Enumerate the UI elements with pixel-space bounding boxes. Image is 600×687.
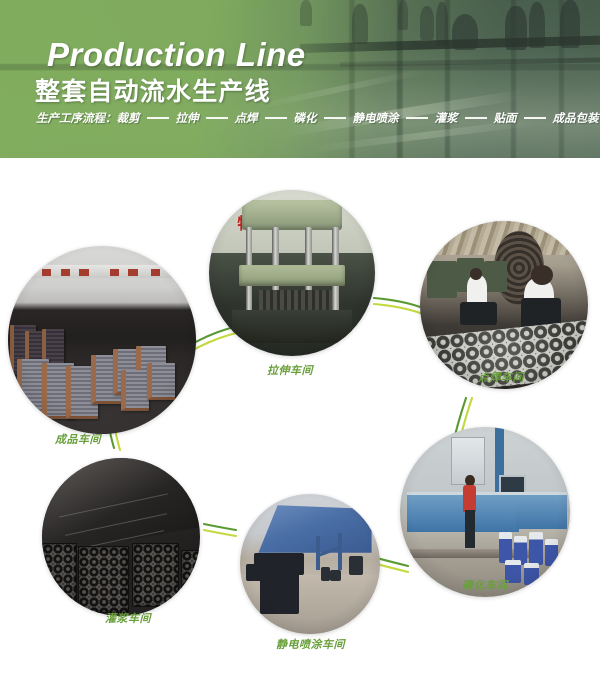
process-step-phosphating: 磷化 [294,110,317,126]
process-step-grouting: 灌浆 [435,110,458,126]
silhouette-figure [452,14,478,50]
silhouette-figure [398,0,408,30]
title-english: Production Line [47,36,306,74]
photo-finished-workshop [8,246,196,434]
caption-spot-welding-workshop: 点焊车间 [478,369,524,385]
process-flow-strip: 生产工序流程： 裁剪 拉伸 点焊 磷化 静电喷涂 灌浆 贴面 成品包装 [36,110,599,126]
process-step-stretching: 拉伸 [176,110,199,126]
flow-dash-icon [406,117,428,119]
flow-dash-icon [265,117,287,119]
process-cycle-diagram: 成品车间 特 拉伸车间 [0,158,600,687]
photo-grouting-workshop [42,458,200,616]
caption-phosphating-workshop: 磷化车间 [462,577,508,593]
caption-electrostatic-spraying-workshop: 静电喷涂车间 [276,636,345,652]
flow-dash-icon [524,117,546,119]
caption-stretching-workshop: 拉伸车间 [267,362,313,378]
process-step-spot-welding: 点焊 [235,110,258,126]
process-step-cutting: 裁剪 [117,110,140,126]
flow-dash-icon [206,117,228,119]
silhouette-figure [529,2,545,48]
silhouette-figure [505,6,527,50]
node-electrostatic-spraying-workshop[interactable]: 静电喷涂车间 [240,494,380,634]
photo-spot-welding-workshop [420,221,588,389]
flow-dash-icon [324,117,346,119]
process-step-veneering: 贴面 [494,110,517,126]
photo-electrostatic-spraying-workshop [240,494,380,634]
silhouette-figure [300,0,312,26]
node-finished-workshop[interactable]: 成品车间 [8,246,196,434]
node-spot-welding-workshop[interactable]: 点焊车间 [420,221,588,389]
photo-stretching-workshop: 特 [209,190,375,356]
process-flow-label: 生产工序流程： [36,110,117,126]
process-step-packaging: 成品包装 [553,110,599,126]
silhouette-figure [420,6,434,40]
flow-dash-icon [465,117,487,119]
silhouette-figure [436,2,448,46]
silhouette-figure [560,0,580,48]
node-grouting-workshop[interactable]: 灌浆车间 [42,458,200,616]
silhouette-figure [352,4,368,44]
process-step-electrostatic-spraying: 静电喷涂 [353,110,399,126]
caption-grouting-workshop: 灌浆车间 [105,610,151,626]
title-chinese: 整套自动流水生产线 [35,72,271,108]
photo-phosphating-workshop [400,427,570,597]
caption-finished-workshop: 成品车间 [55,431,101,447]
production-line-poster: Production Line 整套自动流水生产线 生产工序流程： 裁剪 拉伸 … [0,0,600,687]
header-banner: Production Line 整套自动流水生产线 生产工序流程： 裁剪 拉伸 … [0,0,600,158]
flow-dash-icon [147,117,169,119]
node-stretching-workshop[interactable]: 特 拉伸车间 [209,190,375,356]
node-phosphating-workshop[interactable]: 磷化车间 [400,427,570,597]
